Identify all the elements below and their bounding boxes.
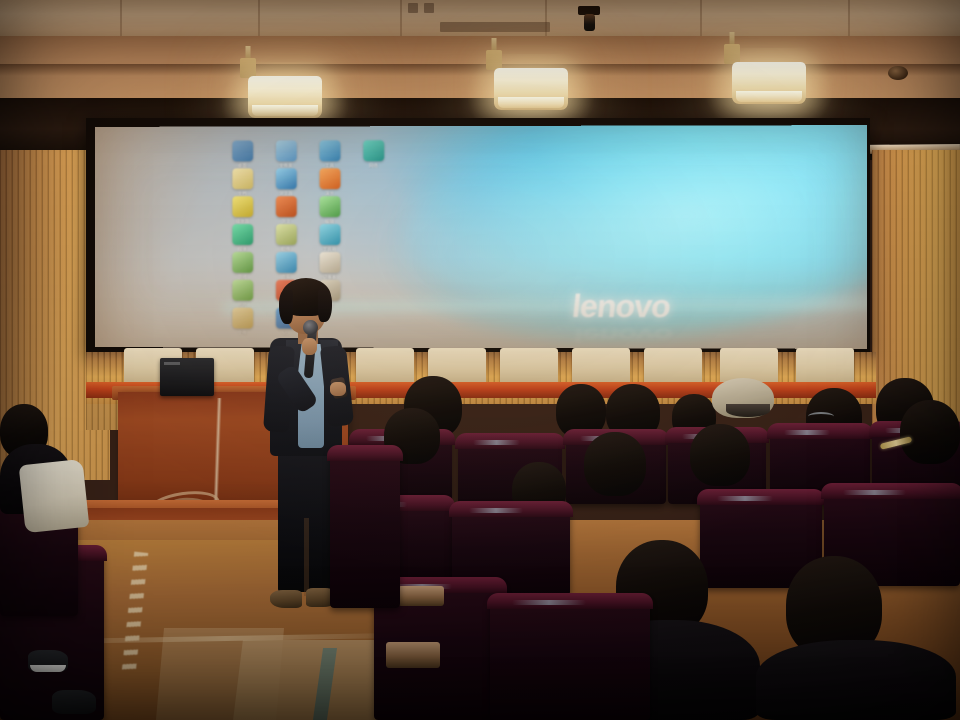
desktop-icon-row: 桌面文件夹工具网络: [223, 140, 398, 168]
beam-shadow: [0, 64, 960, 76]
stage-chair[interactable]: [572, 348, 630, 384]
seat-armrest: [386, 642, 440, 668]
icon-app-15-glyph: [275, 252, 296, 273]
seat-highlight: [512, 600, 586, 605]
icon-app-7[interactable]: 演示: [311, 168, 349, 196]
lenovo-logo: lenovo: [570, 288, 672, 325]
presenter-hair-side: [318, 290, 332, 322]
ceiling-seam: [120, 0, 122, 40]
icon-app-7-glyph: [319, 168, 340, 189]
audience-head: [690, 424, 750, 486]
light-yoke: [240, 58, 256, 78]
audience-head: [900, 400, 960, 464]
icon-app-3[interactable]: 工具: [311, 140, 349, 168]
ceiling-seam: [545, 0, 547, 40]
icon-app-14[interactable]: 游戏: [223, 252, 261, 280]
desktop-icon-row: 播放器浏览编辑: [223, 196, 398, 224]
lenovo-logo-reflection: lenovo: [573, 324, 673, 346]
icon-app-4-label: 网络: [369, 163, 378, 168]
microphone-head: [303, 320, 318, 335]
white-bag: [19, 459, 90, 533]
icon-app-14-glyph: [232, 252, 253, 273]
desktop-icon-row: 文档浏览器演示: [223, 168, 398, 196]
icon-app-13-glyph: [319, 224, 340, 245]
eyeglasses: [808, 412, 834, 421]
presenter-hair-side: [279, 290, 293, 324]
seat-highlight: [843, 490, 906, 495]
light-body: [248, 76, 322, 118]
icon-app-12[interactable]: 软件: [267, 224, 305, 252]
audience-shoulders: [756, 640, 956, 720]
seat-highlight: [784, 430, 830, 435]
icon-app-5[interactable]: 文档: [223, 168, 261, 196]
icon-app-8-glyph: [232, 196, 253, 217]
ceiling-seam: [258, 0, 260, 40]
projection-screen-surface[interactable]: 桌面文件夹工具网络文档浏览器演示播放器浏览编辑媒体软件工具箱游戏音乐记事本图片影…: [95, 125, 867, 349]
light-body: [732, 62, 806, 104]
presenter-leg-gap: [304, 518, 309, 596]
wall-speaker: [888, 66, 908, 80]
icon-app-11[interactable]: 媒体: [223, 224, 261, 252]
icon-app-2[interactable]: 文件夹: [267, 140, 305, 168]
icon-app-5-glyph: [232, 168, 253, 189]
ceiling-panel: [0, 0, 960, 40]
icon-app-16-glyph: [319, 252, 340, 273]
desktop-icon-row: 游戏音乐记事本: [223, 252, 398, 280]
icon-app-6[interactable]: 浏览器: [267, 168, 305, 196]
stage-chair[interactable]: [796, 348, 854, 384]
ceiling-vent: [440, 22, 550, 32]
light-yoke: [486, 50, 502, 70]
audience-sneaker: [28, 650, 68, 672]
audio-equipment-box: [160, 358, 214, 396]
projection-screen-frame: 桌面文件夹工具网络文档浏览器演示播放器浏览编辑媒体软件工具箱游戏音乐记事本图片影…: [86, 118, 870, 356]
icon-app-10[interactable]: 编辑: [311, 196, 349, 224]
icon-app-10-glyph: [319, 196, 340, 217]
presenter-hand-holding-microphone: [302, 338, 317, 355]
desktop-icon-row: 媒体软件工具箱: [223, 224, 398, 252]
audience-head: [584, 432, 646, 496]
light-yoke: [724, 44, 740, 64]
seat-highlight: [469, 508, 523, 513]
icon-app-9-glyph: [275, 196, 296, 217]
audience-seat-side[interactable]: [330, 448, 400, 608]
icon-app-11-glyph: [232, 224, 253, 245]
stage-chair[interactable]: [644, 348, 702, 384]
icon-app-12-glyph: [275, 224, 296, 245]
audience-seat-front[interactable]: [490, 596, 650, 720]
auditorium-photo-scene: 桌面文件夹工具网络文档浏览器演示播放器浏览编辑媒体软件工具箱游戏音乐记事本图片影…: [0, 0, 960, 720]
seat-armrest: [398, 586, 444, 606]
icon-app-16[interactable]: 记事本: [311, 252, 349, 280]
icon-app-4-glyph: [363, 140, 384, 161]
ceiling-seam: [400, 0, 402, 40]
icon-app-20-label: 文件: [238, 331, 247, 336]
ceiling-vent: [408, 3, 418, 13]
icon-app-6-glyph: [275, 168, 296, 189]
icon-app-13[interactable]: 工具箱: [311, 224, 349, 252]
ceiling-seam: [700, 0, 702, 40]
icon-app-9[interactable]: 浏览: [267, 196, 305, 224]
ceiling-seam: [848, 0, 850, 40]
icon-app-2-glyph: [275, 140, 296, 161]
icon-app-15[interactable]: 音乐: [267, 252, 305, 280]
icon-app-1-glyph: [232, 140, 253, 161]
icon-app-1[interactable]: 桌面: [223, 140, 261, 168]
presenter-hand-holding-phone: [330, 382, 346, 396]
cap-brim: [726, 404, 770, 417]
presenter-shoe-left: [270, 590, 302, 608]
camera-body: [584, 14, 595, 31]
ceiling-camera: [578, 6, 600, 36]
icon-app-3-glyph: [319, 140, 340, 161]
icon-app-8[interactable]: 播放器: [223, 196, 261, 224]
stage-chair[interactable]: [500, 348, 558, 384]
light-body: [494, 68, 568, 110]
icon-app-4[interactable]: 网络: [354, 140, 392, 168]
ceiling-vent: [424, 3, 434, 13]
seat-highlight: [473, 440, 521, 445]
seat-highlight: [717, 496, 773, 501]
audience-sneaker: [52, 690, 96, 714]
